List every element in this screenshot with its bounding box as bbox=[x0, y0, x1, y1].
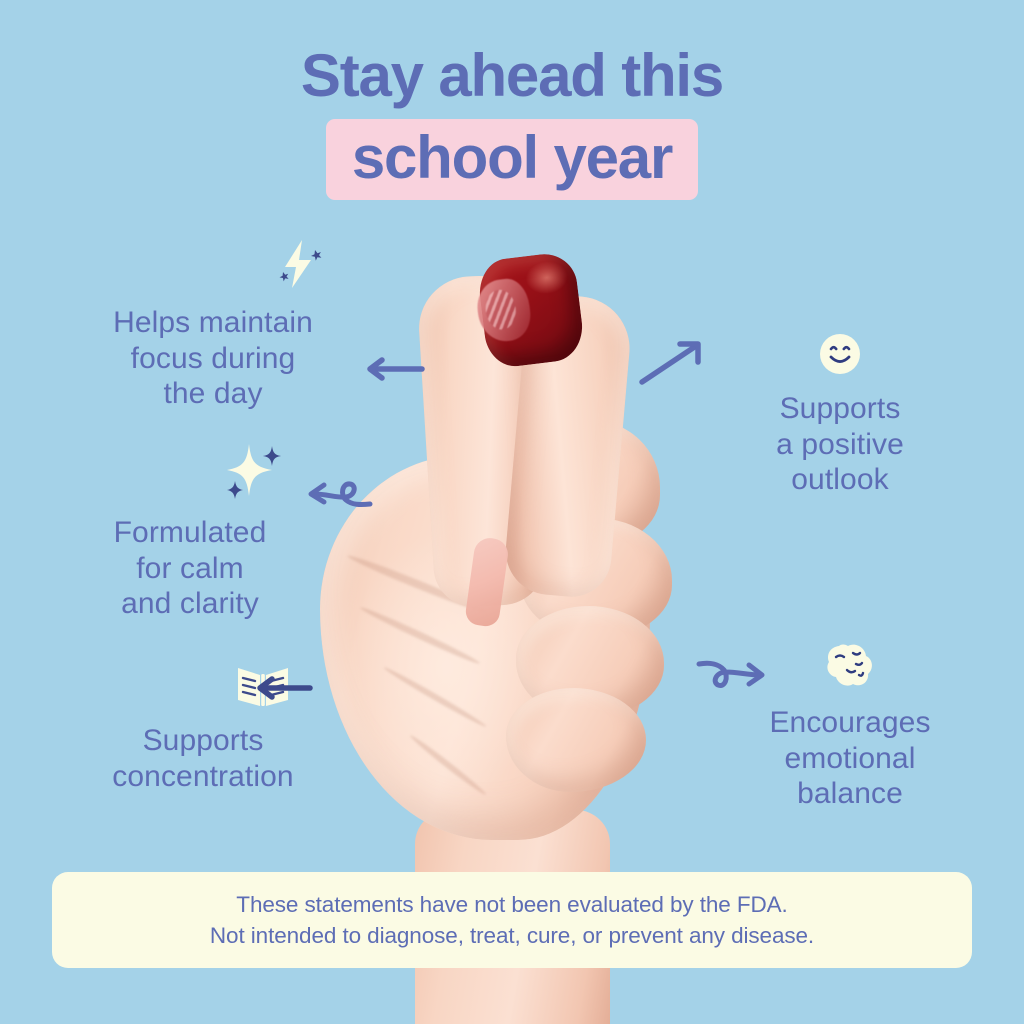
feature-focus-line-2: focus during bbox=[40, 341, 386, 377]
headline-highlight-band: school year bbox=[326, 119, 698, 200]
feature-positive-line-1: Supports bbox=[690, 391, 990, 427]
feature-positive-line-2: a positive bbox=[690, 427, 990, 463]
feature-calm-line-2: for calm bbox=[30, 551, 350, 587]
headline-line-2: school year bbox=[352, 124, 672, 191]
arrow-left-straight-icon bbox=[362, 352, 426, 391]
feature-concentration-line-2: concentration bbox=[38, 759, 368, 795]
feature-positive-line-3: outlook bbox=[690, 462, 990, 498]
feature-emotional-line-3: balance bbox=[700, 776, 1000, 812]
feature-calm-line-3: and clarity bbox=[30, 586, 350, 622]
arrow-left-straight-icon bbox=[252, 672, 314, 709]
arrow-up-right-diagonal-icon bbox=[636, 336, 706, 393]
knuckle bbox=[506, 688, 646, 792]
feature-positive-outlook: Supports a positive outlook bbox=[690, 330, 990, 498]
feature-emotional-line-1: Encourages bbox=[700, 705, 1000, 741]
feature-concentration-line-1: Supports bbox=[38, 723, 368, 759]
headline-line-1: Stay ahead this bbox=[0, 44, 1024, 109]
feature-concentration: Supports concentration bbox=[38, 662, 368, 794]
arrow-left-curly-icon bbox=[302, 472, 374, 521]
gummy-product bbox=[476, 250, 586, 369]
feature-focus-line-1: Helps maintain bbox=[40, 305, 386, 341]
lightning-bolt-icon bbox=[212, 236, 386, 297]
feature-focus: Helps maintain focus during the day bbox=[40, 236, 386, 412]
smiley-face-icon bbox=[690, 330, 990, 383]
page-title: Stay ahead this school year bbox=[0, 44, 1024, 200]
feature-focus-line-3: the day bbox=[40, 376, 386, 412]
feature-calm: Formulated for calm and clarity bbox=[30, 440, 350, 622]
disclaimer-line-1: These statements have not been evaluated… bbox=[236, 889, 787, 920]
promo-graphic: Stay ahead this school year bbox=[0, 0, 1024, 1024]
disclaimer-line-2: Not intended to diagnose, treat, cure, o… bbox=[210, 920, 814, 951]
arrow-right-curly-icon bbox=[694, 652, 770, 703]
feature-emotional-line-2: emotional bbox=[700, 741, 1000, 777]
disclaimer-card: These statements have not been evaluated… bbox=[52, 872, 972, 968]
